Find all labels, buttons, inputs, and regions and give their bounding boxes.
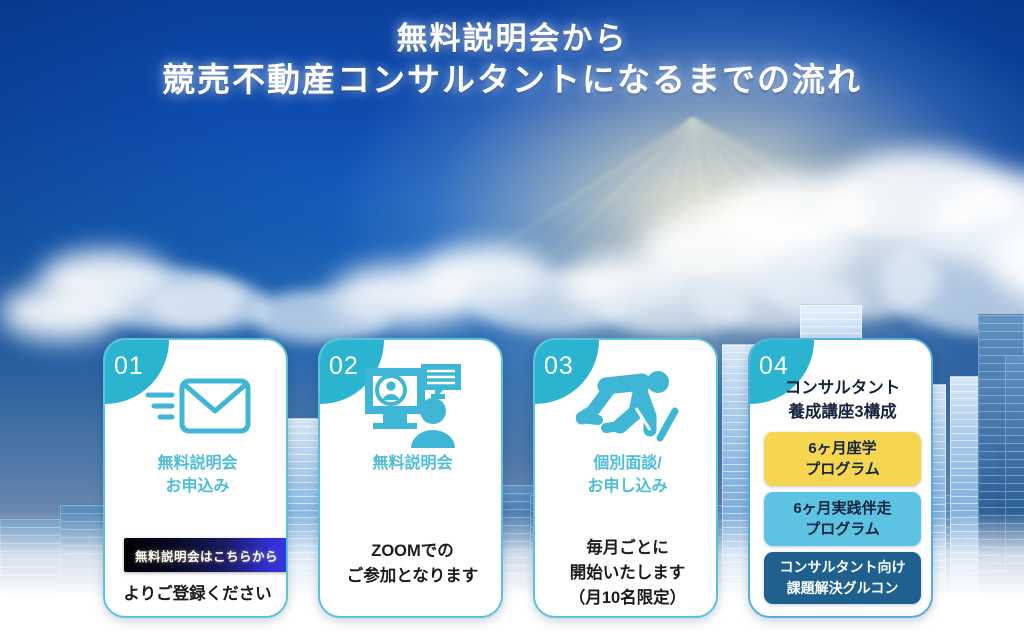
card-2-teal-line-1: 無料説明会 [320,452,503,475]
mail-envelope-icon [105,364,288,446]
step-card-01[interactable]: 01 無料説明会 お申込み 無料説明会はこちらから よりご登録ください [103,338,288,618]
program-pill-3-line-1: コンサルタント向け [780,557,906,578]
program-pill-2-line-1: 6ヶ月実践伴走 [793,498,891,519]
program-pill-1-line-1: 6ヶ月座学 [805,438,880,459]
program-pill-3[interactable]: コンサルタント向け 課題解決グルコン [764,552,921,604]
promo-banner: 無料説明会から 競売不動産コンサルタントになるまでの流れ 01 無料説明会 お申… [0,0,1024,632]
card-3-black-line-1: 毎月ごとに [535,536,718,561]
program-pill-1-line-2: プログラム [805,459,880,480]
card-3-black-line-3: （月10名限定） [535,586,718,611]
program-pill-2-line-2: プログラム [793,519,891,540]
program-pill-2[interactable]: 6ヶ月実践伴走 プログラム [764,492,921,546]
free-seminar-cta-button[interactable]: 無料説明会はこちらから [124,538,288,572]
sprinter-start-icon [535,364,718,446]
step-card-03[interactable]: 03 個別面談/ お申し込み 毎月ごとに 開始いたします （月10名限定） [533,338,718,618]
card-4-heading-line-2: 養成講座3構成 [750,400,933,424]
card-3-teal-line-2: お申し込み [535,475,718,498]
card-2-black-line-2: ご参加となります [320,564,503,589]
cta-label: 無料説明会はこちらから [135,546,278,565]
title-line-2: 競売不動産コンサルタントになるまでの流れ [0,60,1024,102]
program-pill-1[interactable]: 6ヶ月座学 プログラム [764,432,921,486]
card-4-heading-line-1: コンサルタント [750,376,933,400]
card-2-black-line-1: ZOOMでの [320,539,503,564]
program-pill-3-line-2: 課題解決グルコン [780,578,906,599]
online-meeting-icon [320,364,503,446]
step-card-02[interactable]: 02 [318,338,503,618]
card-3-black-line-2: 開始いたします [535,561,718,586]
page-title: 無料説明会から 競売不動産コンサルタントになるまでの流れ [0,18,1024,102]
card-1-black-line-1: よりご登録ください [105,582,288,607]
card-1-teal-line-2: お申込み [105,475,288,498]
title-line-1: 無料説明会から [0,18,1024,60]
card-3-teal-line-1: 個別面談/ [535,452,718,475]
step-card-04[interactable]: 04 コンサルタント 養成講座3構成 6ヶ月座学 プログラム 6ヶ月実践伴走 プ… [748,338,933,618]
card-1-teal-line-1: 無料説明会 [105,452,288,475]
